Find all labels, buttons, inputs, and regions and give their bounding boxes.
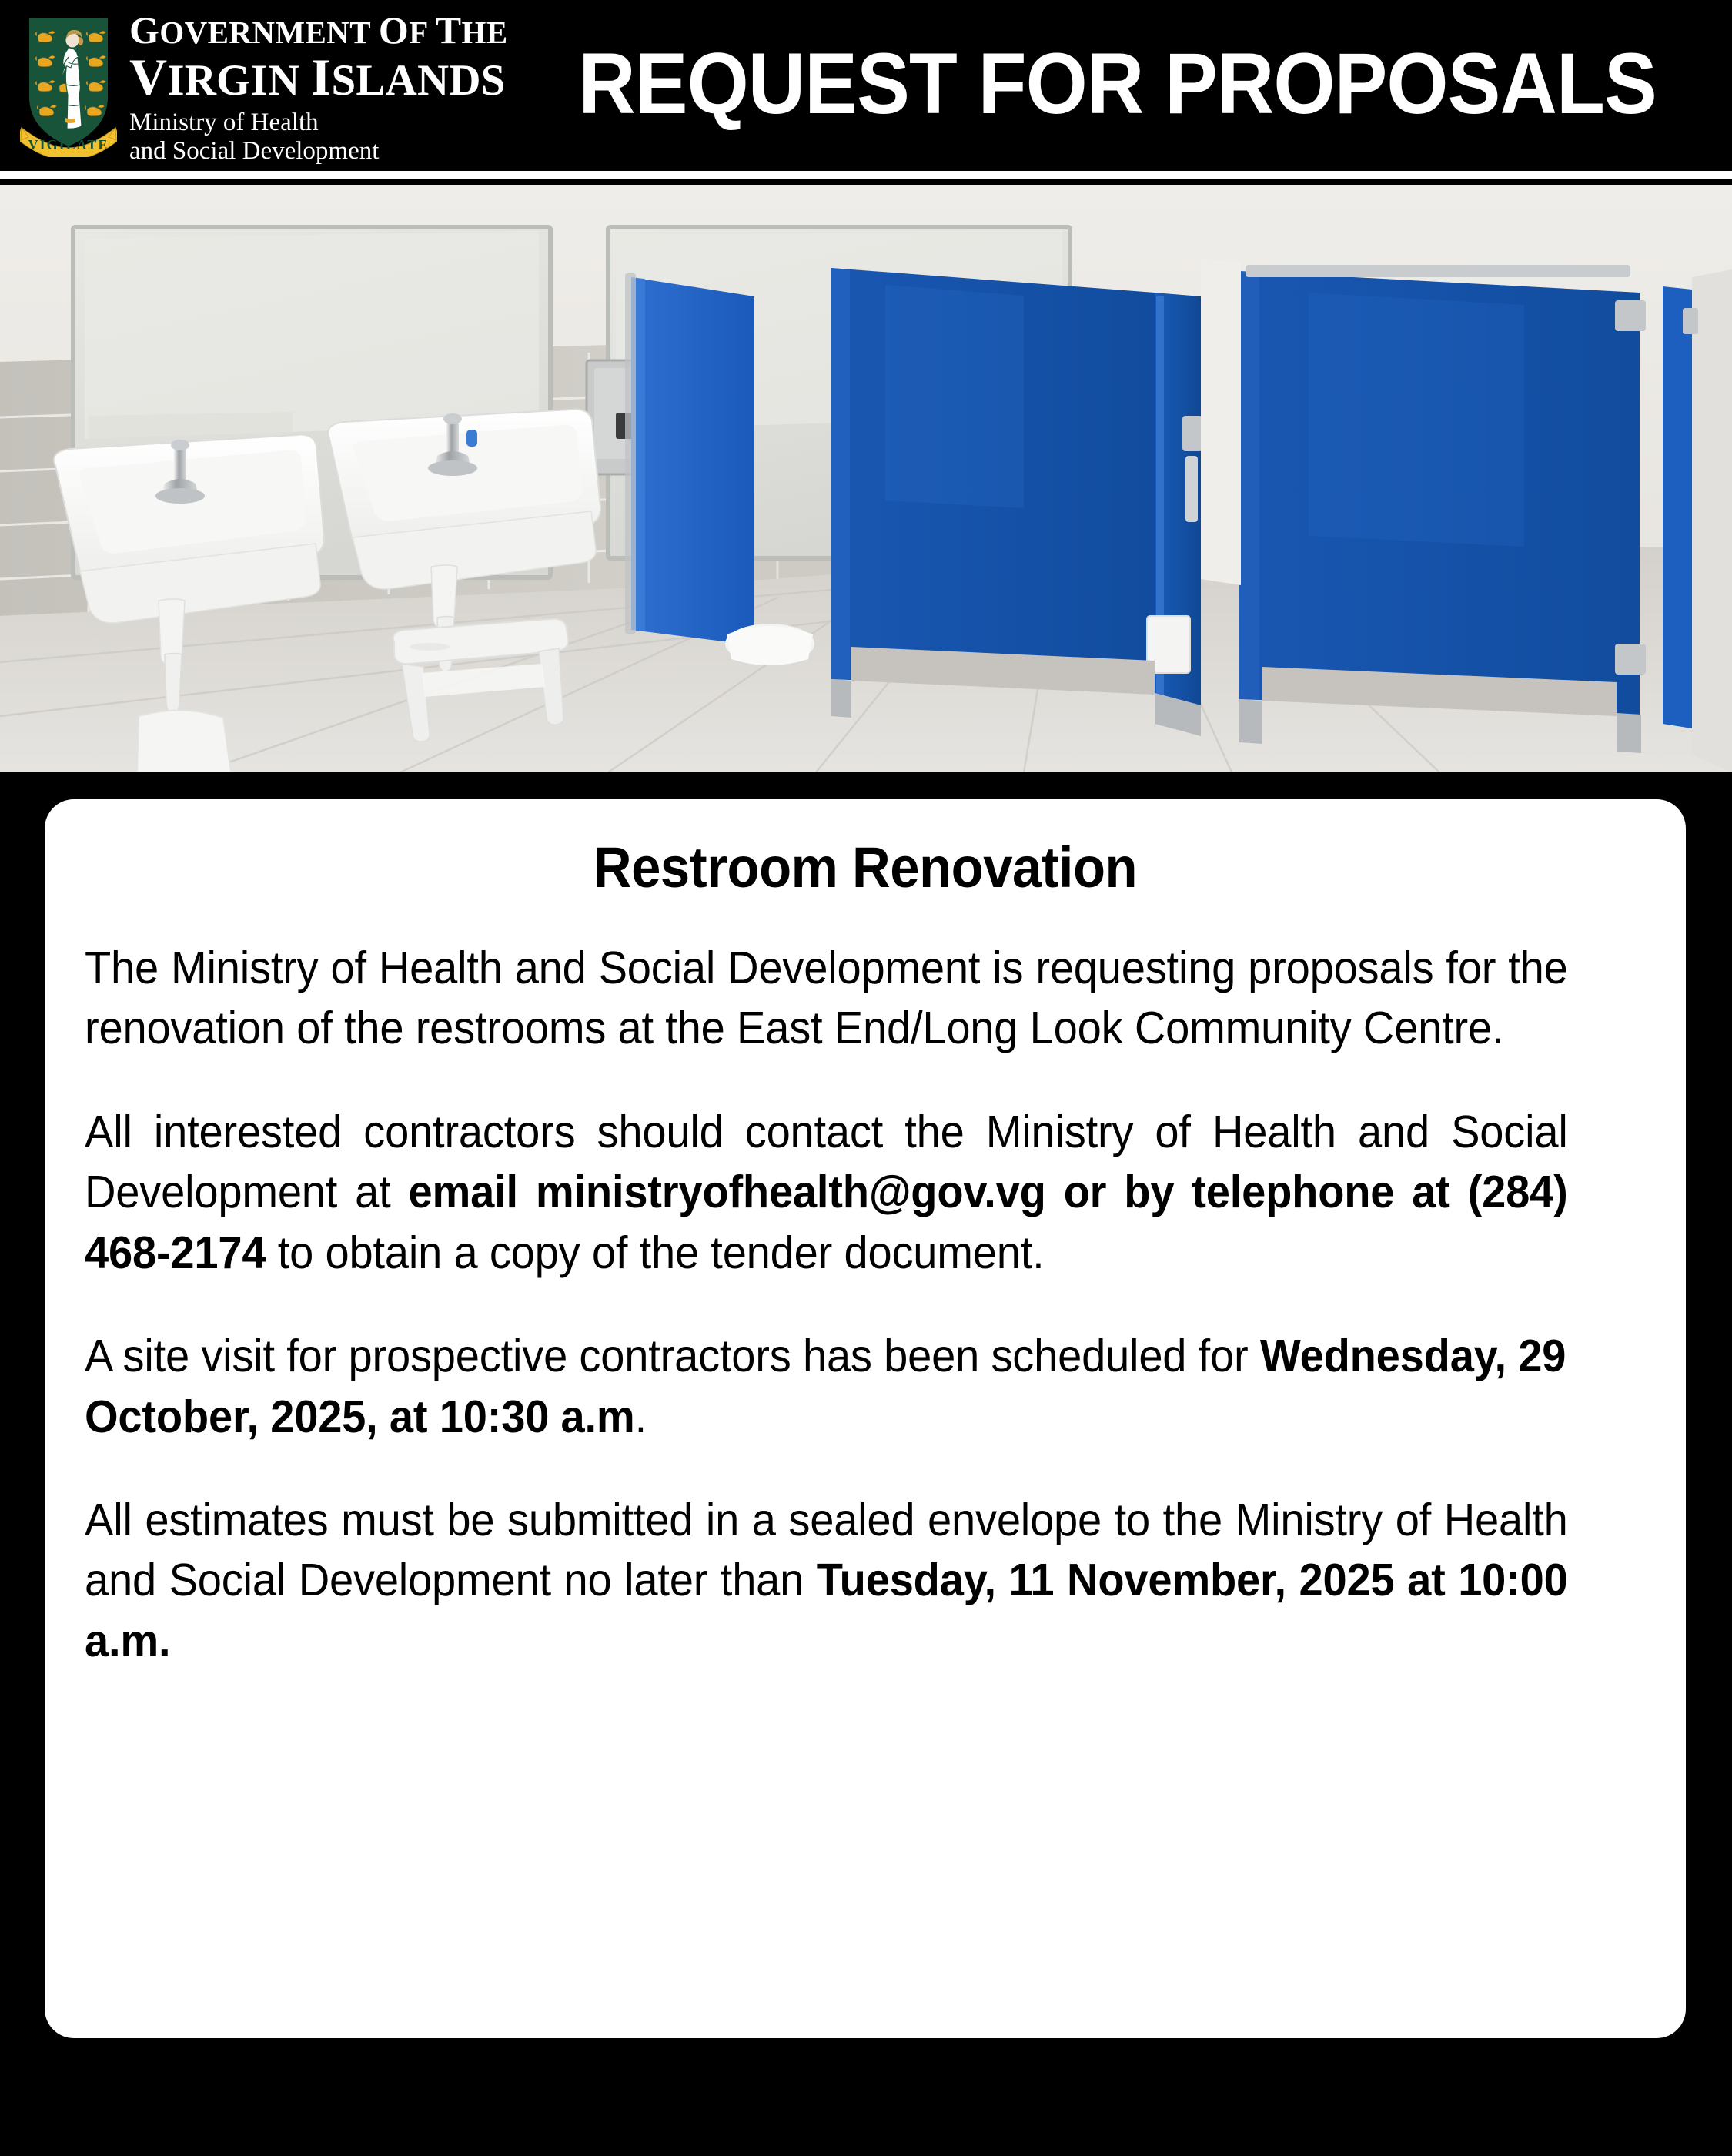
paragraph-contact: All interested contractors should contac… [85,1102,1568,1283]
logo-line-social-development: and Social Development [129,139,508,164]
poster-header: VIGILATE GOVERNMENT OF THE VIRGIN ISLAND… [0,0,1732,171]
government-brand-lockup: VIGILATE GOVERNMENT OF THE VIRGIN ISLAND… [20,8,508,162]
logo-line-virgin-islands: VIRGIN ISLANDS [129,51,508,103]
paragraph-site-visit: A site visit for prospective contractors… [85,1326,1568,1447]
rfp-poster: VIGILATE GOVERNMENT OF THE VIRGIN ISLAND… [0,0,1732,2156]
page-title: REQUEST FOR PROPOSALS [557,34,1683,138]
logo-line-government: GOVERNMENT OF THE [129,11,508,49]
notice-body: The Ministry of Health and Social Develo… [85,938,1646,1672]
paragraph-intro: The Ministry of Health and Social Develo… [85,938,1568,1059]
paragraph-intro-run-0: The Ministry of Health and Social Develo… [85,942,1568,1053]
header-divider [0,171,1732,179]
bvi-coat-of-arms-icon: VIGILATE [20,14,117,157]
paragraph-site-visit-run-2: . [635,1391,647,1442]
paragraph-contact-run-2: to obtain a copy of the tender document. [266,1227,1044,1278]
svg-text:VIGILATE: VIGILATE [28,137,109,152]
logo-line-ministry: Ministry of Health [129,110,508,136]
notice-card: Restroom Renovation The Ministry of Heal… [45,799,1686,2038]
ministry-wordmark: GOVERNMENT OF THE VIRGIN ISLANDS Ministr… [129,8,508,164]
paragraph-site-visit-run-0: A site visit for prospective contractors… [85,1331,1260,1381]
notice-title: Restroom Renovation [139,838,1591,898]
restroom-photo [0,185,1732,772]
paragraph-submission: All estimates must be submitted in a sea… [85,1490,1568,1671]
